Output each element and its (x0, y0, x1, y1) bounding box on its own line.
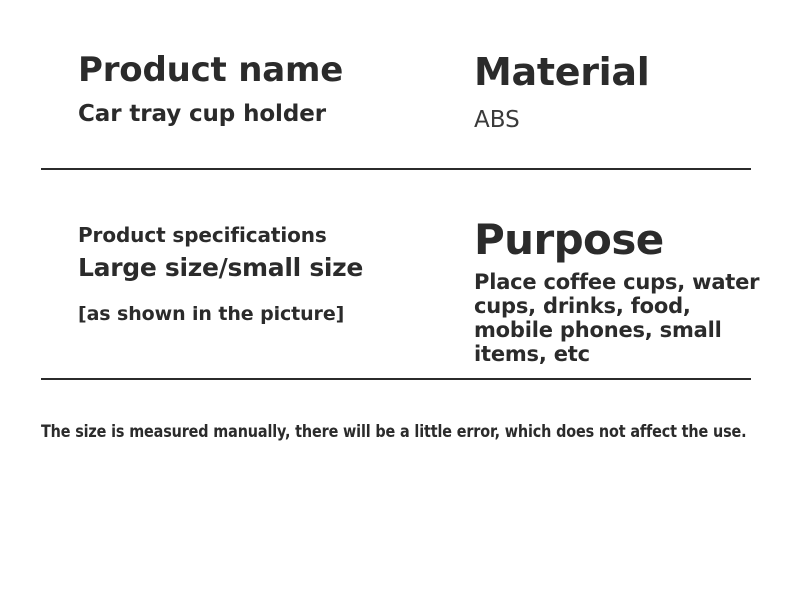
product-name-value: Car tray cup holder (78, 98, 458, 130)
divider-bottom (41, 378, 751, 380)
divider-top (41, 168, 751, 170)
spec-row-details: Product specifications Large size/small … (0, 222, 790, 352)
spec-field-purpose: Purpose Place coffee cups, water cups, d… (474, 222, 774, 366)
product-specifications-value: Large size/small size (78, 251, 458, 285)
product-specifications-label: Product specifications (78, 222, 458, 248)
material-value: ABS (474, 104, 774, 136)
spec-field-product-name: Product name Car tray cup holder (78, 48, 458, 130)
spec-field-material: Material ABS (474, 48, 774, 136)
product-spec-sheet: Product name Car tray cup holder Materia… (0, 0, 790, 594)
spec-field-product-specifications: Product specifications Large size/small … (78, 222, 458, 327)
purpose-value: Place coffee cups, water cups, drinks, f… (474, 270, 764, 366)
product-specifications-note: [as shown in the picture] (78, 301, 458, 327)
product-name-label: Product name (78, 48, 458, 92)
measurement-disclaimer: The size is measured manually, there wil… (41, 420, 718, 444)
purpose-label: Purpose (474, 216, 774, 264)
material-label: Material (474, 48, 774, 96)
spec-row-identity: Product name Car tray cup holder Materia… (0, 48, 790, 158)
